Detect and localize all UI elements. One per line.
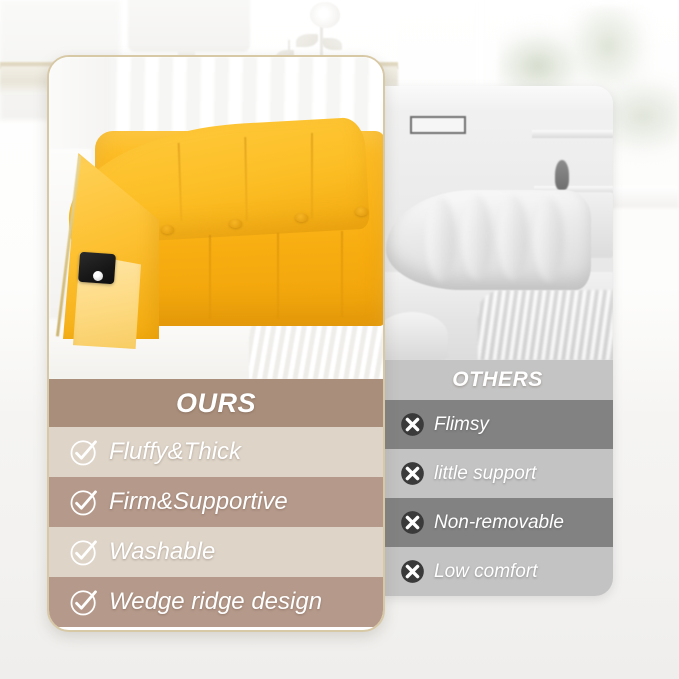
- others-row: Low comfort: [382, 547, 613, 596]
- others-row-label: Non-removable: [434, 512, 564, 534]
- others-photo-pillow-tuft: [426, 198, 456, 282]
- background-leaf: [322, 38, 342, 50]
- ours-row-label: Washable: [109, 538, 215, 566]
- ours-row-label: Firm&Supportive: [109, 488, 288, 516]
- product-pillow-button: [161, 225, 174, 234]
- product-pillow-seam: [311, 133, 313, 219]
- ours-row-label: Wedge ridge design: [109, 588, 322, 616]
- check-circle-icon: [69, 587, 99, 617]
- others-product-photo: [382, 86, 613, 360]
- ours-row: Fluffy&Thick: [49, 427, 383, 477]
- others-header-label: OTHERS: [452, 368, 543, 392]
- others-photo-ceiling: [382, 86, 613, 112]
- product-pillow-button: [355, 207, 368, 216]
- others-photo-shelf: [532, 130, 613, 138]
- others-photo-picture-frame: [410, 116, 466, 134]
- others-photo-pillow-tuft: [534, 198, 564, 282]
- background-lamp-shade: [128, 0, 250, 52]
- check-circle-icon: [69, 537, 99, 567]
- others-photo-pillow-tuft: [462, 196, 492, 280]
- others-row-label: Flimsy: [434, 414, 489, 436]
- others-row-label: Low comfort: [434, 561, 537, 583]
- others-row-label: little support: [434, 463, 536, 485]
- ours-product-photo: [49, 57, 383, 379]
- others-row: little support: [382, 449, 613, 498]
- background-leaf: [296, 34, 318, 47]
- product-pillow-seam: [341, 231, 343, 317]
- others-photo-vase: [555, 160, 569, 190]
- others-photo-stool: [382, 312, 448, 360]
- product-pillow-button: [229, 219, 242, 228]
- others-row: Non-removable: [382, 498, 613, 547]
- ours-row: Wedge ridge design: [49, 577, 383, 627]
- x-circle-icon: [400, 510, 425, 535]
- others-panel: OTHERS Flimsy little support: [382, 86, 613, 596]
- ours-feature-list: OURS Fluffy&Thick Firm&Supportive: [49, 379, 383, 627]
- others-feature-list: OTHERS Flimsy little support: [382, 360, 613, 596]
- ours-header-row: OURS: [49, 379, 383, 427]
- ours-row-label: Fluffy&Thick: [109, 438, 241, 466]
- product-pillow-seam: [277, 233, 279, 319]
- check-circle-icon: [69, 487, 99, 517]
- comparison-infographic: OTHERS Flimsy little support: [0, 0, 679, 679]
- x-circle-icon: [400, 559, 425, 584]
- x-circle-icon: [400, 461, 425, 486]
- ours-row: Firm&Supportive: [49, 477, 383, 527]
- check-circle-icon: [69, 437, 99, 467]
- x-circle-icon: [400, 412, 425, 437]
- others-header-row: OTHERS: [382, 360, 613, 400]
- product-pillow-button: [295, 213, 308, 222]
- others-row: Flimsy: [382, 400, 613, 449]
- ours-header-label: OURS: [176, 388, 256, 419]
- ours-card: OURS Fluffy&Thick Firm&Supportive: [47, 55, 385, 632]
- ours-row: Washable: [49, 527, 383, 577]
- product-pillow-seam: [209, 235, 211, 319]
- background-flower: [310, 2, 340, 28]
- others-photo-pillow-tuft: [498, 196, 528, 280]
- others-photo-blanket: [478, 290, 613, 360]
